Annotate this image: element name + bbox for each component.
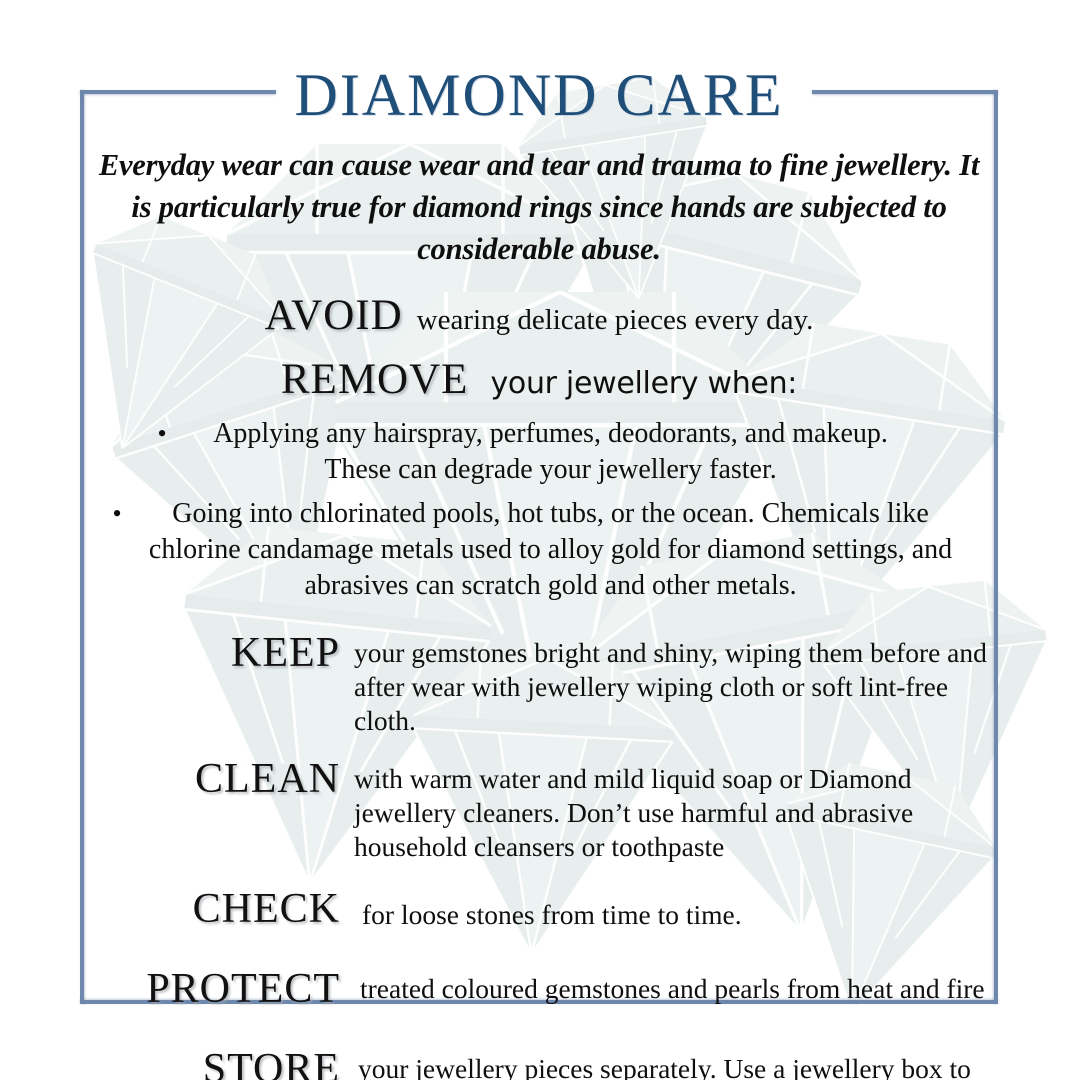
keyword-remove: REMOVE: [281, 356, 469, 404]
intro-paragraph: Everyday wear can cause wear and tear an…: [84, 144, 994, 270]
poster-content: DIAMOND CARE Everyday wear can cause wea…: [84, 60, 994, 1080]
headline-avoid: AVOID wearing delicate pieces every day.: [84, 292, 994, 340]
headline-avoid-text: wearing delicate pieces every day.: [417, 301, 814, 339]
keyword-protect: PROTECT: [146, 966, 340, 1012]
keyword-check: CHECK: [193, 886, 340, 932]
list-item-text: Going into chlorinated pools, hot tubs, …: [136, 496, 966, 604]
tip-text-clean: with warm water and mild liquid soap or …: [354, 756, 994, 864]
headline-remove: REMOVE your jewellery when:: [84, 356, 994, 404]
frame-right-segment: [994, 90, 998, 1004]
tip-row-clean: CLEAN with warm water and mild liquid so…: [84, 756, 994, 864]
tip-text-keep: your gemstones bright and shiny, wiping …: [354, 630, 994, 738]
list-item-text: Applying any hairspray, perfumes, deodor…: [181, 416, 921, 488]
page-title: DIAMOND CARE: [84, 62, 994, 128]
tip-keyword-cell-keep: KEEP: [84, 630, 354, 676]
keyword-avoid: AVOID: [265, 292, 403, 340]
tip-keyword-cell-clean: CLEAN: [84, 756, 354, 802]
remove-bullet-list: • Applying any hairspray, perfumes, deod…: [84, 416, 994, 604]
tip-row-keep: KEEP your gemstones bright and shiny, wi…: [84, 630, 994, 738]
tip-keyword-cell-check: CHECK: [84, 886, 354, 932]
keyword-store: STORE: [203, 1046, 340, 1080]
diamond-care-poster: DIAMOND CARE Everyday wear can cause wea…: [0, 0, 1080, 1080]
list-item: • Going into chlorinated pools, hot tubs…: [84, 496, 994, 604]
tip-text-protect: treated coloured gemstones and pearls fr…: [354, 966, 994, 1006]
tip-row-store: STORE your jewellery pieces separately. …: [84, 1046, 994, 1080]
list-item: • Applying any hairspray, perfumes, deod…: [84, 416, 994, 488]
keyword-clean: CLEAN: [195, 756, 340, 802]
headline-remove-text: your jewellery when:: [490, 365, 797, 403]
tip-keyword-cell-protect: PROTECT: [84, 966, 354, 1012]
tip-row-check: CHECK for loose stones from time to time…: [84, 886, 994, 932]
tip-keyword-cell-store: STORE: [84, 1046, 354, 1080]
bullet-icon: •: [157, 416, 166, 452]
bullet-icon: •: [112, 496, 121, 532]
tip-row-protect: PROTECT treated coloured gemstones and p…: [84, 966, 994, 1012]
tip-text-store: your jewellery pieces separately. Use a …: [354, 1046, 994, 1080]
tip-text-check: for loose stones from time to time.: [354, 886, 994, 932]
keyword-keep: KEEP: [231, 630, 340, 676]
